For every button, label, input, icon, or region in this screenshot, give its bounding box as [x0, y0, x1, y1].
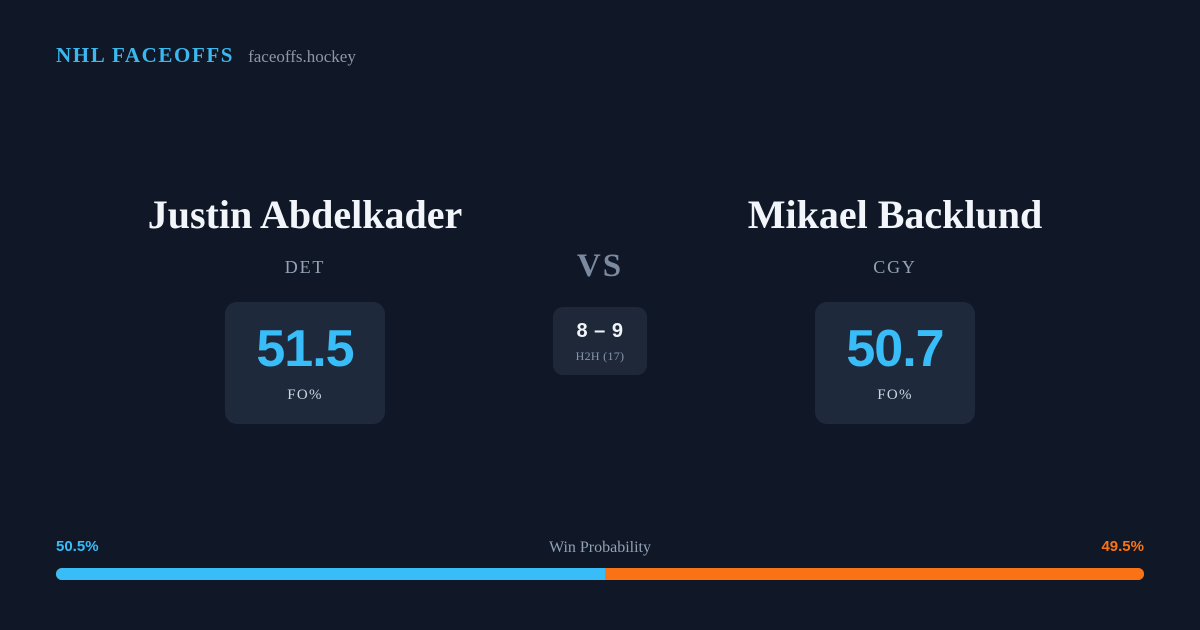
player-left-stat-card: 51.5 FO%: [225, 302, 385, 424]
player-right-name: Mikael Backlund: [748, 195, 1043, 235]
head-to-head-label: H2H (17): [576, 350, 625, 362]
head-to-head-box: 8 – 9 H2H (17): [553, 307, 647, 375]
player-right-faceoff-value: 50.7: [846, 323, 943, 375]
win-probability-right-value: 49.5%: [1101, 538, 1144, 557]
player-left-team: DET: [285, 258, 325, 276]
player-left: Justin Abdelkader DET 51.5 FO%: [70, 195, 540, 424]
win-probability-labels: 50.5% Win Probability 49.5%: [56, 538, 1144, 558]
player-left-faceoff-value: 51.5: [256, 323, 353, 375]
win-probability-bar: [56, 568, 1144, 580]
site-header: NHL FACEOFFS faceoffs.hockey: [56, 45, 356, 66]
win-probability-title: Win Probability: [56, 538, 1144, 558]
win-probability-bar-left-segment: [56, 568, 605, 580]
brand-title: NHL FACEOFFS: [56, 45, 234, 66]
faceoff-matchup-card: NHL FACEOFFS faceoffs.hockey Justin Abde…: [0, 0, 1200, 630]
player-right: Mikael Backlund CGY 50.7 FO%: [660, 195, 1130, 424]
versus-label: VS: [577, 250, 623, 283]
player-right-stat-card: 50.7 FO%: [815, 302, 975, 424]
versus-column: VS 8 – 9 H2H (17): [540, 195, 660, 375]
head-to-head-score: 8 – 9: [577, 321, 624, 341]
matchup-row: Justin Abdelkader DET 51.5 FO% VS 8 – 9 …: [0, 195, 1200, 424]
brand-domain: faceoffs.hockey: [248, 48, 356, 65]
win-probability-section: 50.5% Win Probability 49.5%: [56, 538, 1144, 580]
player-left-name: Justin Abdelkader: [148, 195, 463, 235]
win-probability-bar-right-segment: [605, 568, 1144, 580]
player-left-faceoff-label: FO%: [287, 388, 323, 403]
player-right-team: CGY: [873, 258, 916, 276]
player-right-faceoff-label: FO%: [877, 388, 913, 403]
